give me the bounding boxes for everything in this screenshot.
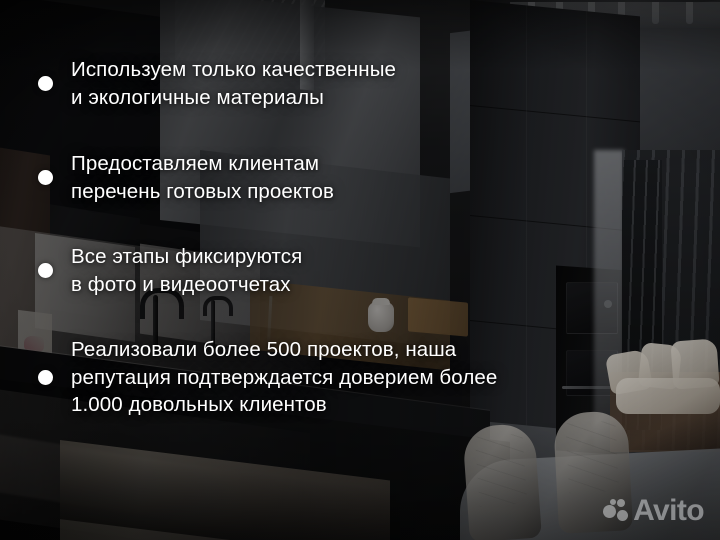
bullet-dot-icon (38, 170, 53, 185)
bullet-dot-icon (38, 76, 53, 91)
avito-dots-icon (603, 499, 629, 523)
avito-wordmark: Avito (633, 496, 704, 526)
bullet-text-1: Используем только качественные и экологи… (71, 56, 396, 111)
overlay-content: Используем только качественные и экологи… (0, 0, 720, 540)
bullet-text-3: Все этапы фиксируются в фото и видеоотче… (71, 243, 302, 298)
bullet-text-2: Предоставляем клиентам перечень готовых … (71, 150, 334, 205)
bullet-dot-icon (38, 370, 53, 385)
bullet-item-1: Используем только качественные и экологи… (38, 56, 396, 111)
avito-watermark: Avito (603, 496, 704, 526)
bullet-item-4: Реализовали более 500 проектов, наша реп… (38, 336, 497, 419)
bullet-text-4: Реализовали более 500 проектов, наша реп… (71, 336, 497, 419)
bullet-item-2: Предоставляем клиентам перечень готовых … (38, 150, 334, 205)
bullet-dot-icon (38, 263, 53, 278)
bullet-item-3: Все этапы фиксируются в фото и видеоотче… (38, 243, 302, 298)
slide-canvas: Используем только качественные и экологи… (0, 0, 720, 540)
